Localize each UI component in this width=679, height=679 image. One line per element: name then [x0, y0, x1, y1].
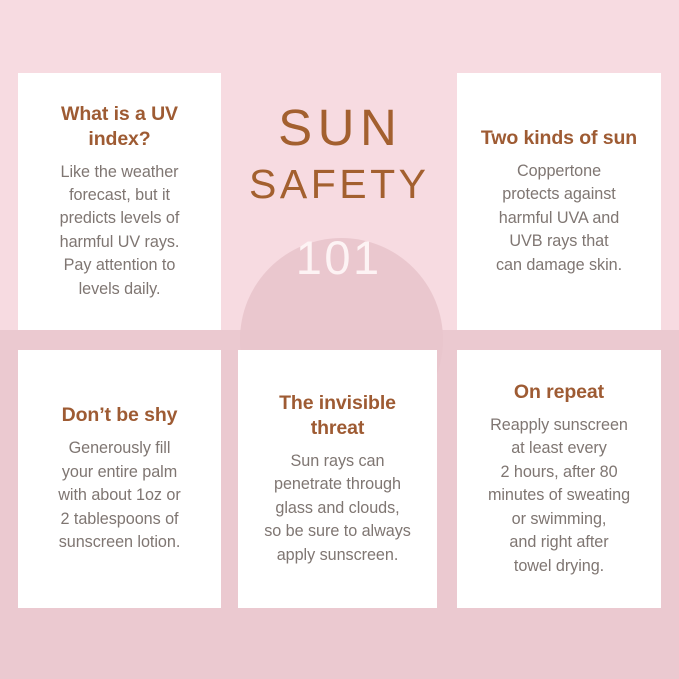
- card-invisible-threat: The invisible threat Sun rays can penetr…: [238, 350, 437, 608]
- card-uv-index: What is a UV index? Like the weather for…: [18, 73, 221, 330]
- title-badge-101: 101: [293, 234, 381, 281]
- card-uv-index-body: Like the weather forecast, but it predic…: [60, 161, 180, 302]
- card-on-repeat: On repeat Reapply sunscreen at least eve…: [457, 350, 661, 608]
- card-on-repeat-title: On repeat: [514, 380, 604, 405]
- card-two-kinds-of-sun-title: Two kinds of sun: [481, 126, 637, 151]
- card-two-kinds-of-sun-body: Coppertone protects against harmful UVA …: [496, 160, 622, 277]
- title-line-sun: SUN: [273, 102, 403, 153]
- card-dont-be-shy-body: Generously fill your entire palm with ab…: [58, 437, 180, 554]
- card-on-repeat-body: Reapply sunscreen at least every 2 hours…: [488, 414, 630, 578]
- card-two-kinds-of-sun: Two kinds of sun Coppertone protects aga…: [457, 73, 661, 330]
- title-line-safety: SAFETY: [246, 164, 430, 205]
- center-title-block: SUN SAFETY 101: [238, 73, 437, 330]
- card-uv-index-title: What is a UV index?: [30, 102, 209, 152]
- card-invisible-threat-body: Sun rays can penetrate through glass and…: [264, 450, 411, 567]
- card-dont-be-shy: Don’t be shy Generously fill your entire…: [18, 350, 221, 608]
- sun-safety-infographic: What is a UV index? Like the weather for…: [0, 0, 679, 679]
- card-invisible-threat-title: The invisible threat: [250, 391, 425, 441]
- card-dont-be-shy-title: Don’t be shy: [62, 403, 178, 428]
